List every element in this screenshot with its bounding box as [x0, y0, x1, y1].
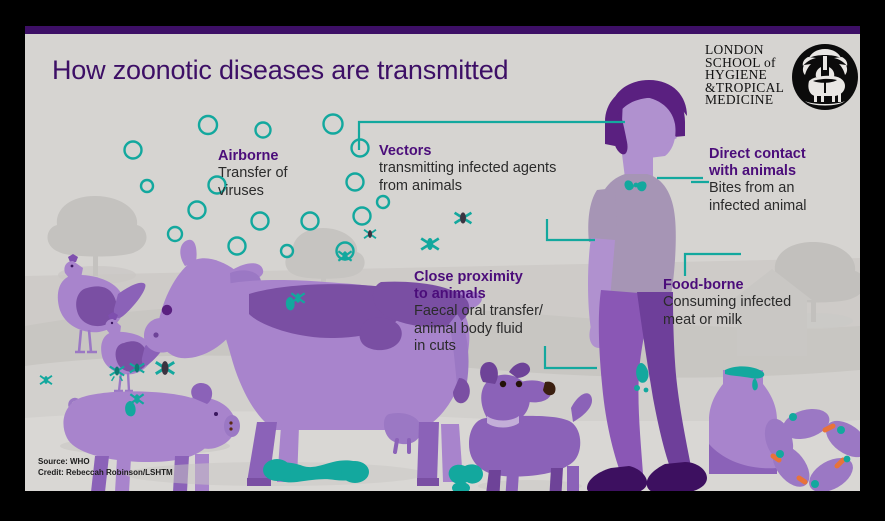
- credits-block: Source: WHO Credit: Rebeccah Robinson/LS…: [38, 456, 173, 478]
- callout-airborne: Airborne Transfer of viruses: [218, 148, 288, 200]
- callout-vectors-line1: transmitting infected agents: [379, 160, 556, 178]
- callout-airborne-line2: viruses: [218, 183, 288, 201]
- callout-airborne-line1: Transfer of: [218, 165, 288, 183]
- callout-vectors-line2: from animals: [379, 178, 556, 196]
- callout-direct-contact: Direct contact with animals Bites from a…: [709, 146, 807, 215]
- callout-close-heading-line2: to animals: [414, 286, 543, 303]
- callout-food-line1: Consuming infected: [663, 294, 791, 312]
- infographic-canvas: How zoonotic diseases are transmitted LO…: [25, 26, 860, 491]
- page-title: How zoonotic diseases are transmitted: [52, 55, 508, 86]
- callout-direct-line1: Bites from an: [709, 180, 807, 198]
- credits-author: Credit: Rebeccah Robinson/LSHTM: [38, 467, 173, 478]
- callout-close-line3: in cuts: [414, 338, 543, 356]
- callout-direct-line2: infected animal: [709, 198, 807, 216]
- callout-close-line1: Faecal oral transfer/: [414, 303, 543, 321]
- callout-direct-heading-line1: Direct contact: [709, 146, 807, 163]
- logo-line-5: MEDICINE: [705, 94, 787, 107]
- callout-food-borne: Food-borne Consuming infected meat or mi…: [663, 277, 791, 329]
- callout-close-line2: animal body fluid: [414, 321, 543, 339]
- outer-frame: How zoonotic diseases are transmitted LO…: [0, 0, 885, 521]
- callout-direct-heading-line2: with animals: [709, 163, 807, 180]
- callout-food-line2: meat or milk: [663, 312, 791, 330]
- lshtm-seal-emblem: [791, 43, 859, 111]
- callout-close-proximity: Close proximity to animals Faecal oral t…: [414, 269, 543, 356]
- callout-vectors: Vectors transmitting infected agents fro…: [379, 143, 556, 195]
- credits-source: Source: WHO: [38, 456, 173, 467]
- logo-wordmark: LONDON SCHOOL of HYGIENE &TROPICAL MEDIC…: [705, 44, 787, 107]
- callout-close-heading-line1: Close proximity: [414, 269, 543, 286]
- lshtm-logo: LONDON SCHOOL of HYGIENE &TROPICAL MEDIC…: [705, 40, 850, 118]
- callout-food-heading: Food-borne: [663, 277, 791, 294]
- callout-airborne-heading: Airborne: [218, 148, 288, 165]
- callout-vectors-heading: Vectors: [379, 143, 556, 160]
